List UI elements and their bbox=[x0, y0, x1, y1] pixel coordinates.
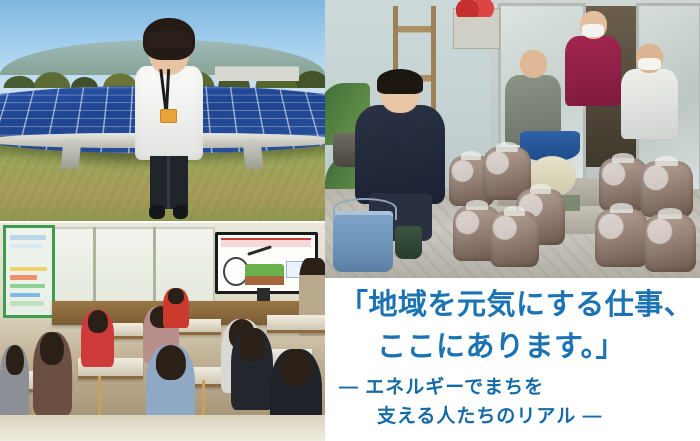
staff-person bbox=[133, 18, 205, 221]
shiitake-bag bbox=[490, 211, 539, 267]
student-head bbox=[40, 332, 64, 365]
navy-jacket bbox=[355, 105, 445, 204]
poster-canvas: 「地域を元気にする仕事、 ここにあります。」 — エネルギーでまちを 支える人た… bbox=[0, 0, 700, 441]
harvest-photo bbox=[325, 0, 700, 278]
subline-line-2: 支える人たちのリアル — bbox=[325, 402, 700, 431]
panel-support-leg-left bbox=[60, 139, 81, 169]
wall-poster bbox=[3, 225, 55, 318]
caption-panel: 「地域を元気にする仕事、 ここにあります。」 — エネルギーでまちを 支える人た… bbox=[325, 278, 700, 441]
solar-panel-photo bbox=[0, 0, 325, 221]
distant-building bbox=[215, 66, 300, 80]
resident-seated-right bbox=[621, 44, 677, 139]
head bbox=[520, 50, 547, 78]
classroom-windows bbox=[33, 227, 215, 305]
student bbox=[163, 288, 189, 327]
chair-frame bbox=[98, 376, 101, 415]
student bbox=[231, 328, 273, 411]
slide-soil-graphic bbox=[245, 276, 284, 285]
student-head bbox=[167, 288, 183, 304]
shiitake-bag bbox=[644, 214, 697, 272]
student-head bbox=[156, 345, 186, 380]
student bbox=[0, 345, 29, 419]
face-mask bbox=[638, 58, 661, 70]
panel-support-leg-right bbox=[242, 139, 263, 169]
blue-bucket bbox=[333, 211, 393, 272]
bucket-handle bbox=[333, 198, 397, 219]
student-head bbox=[280, 349, 312, 386]
magenta-jacket bbox=[565, 36, 621, 106]
student bbox=[33, 332, 72, 415]
student bbox=[81, 310, 114, 367]
classroom-photo bbox=[0, 223, 325, 441]
headline-line-2: ここにあります。」 bbox=[325, 326, 700, 368]
face-mask bbox=[582, 24, 605, 36]
potted-flowers bbox=[456, 0, 494, 17]
shoe-left bbox=[149, 205, 165, 219]
trousers bbox=[150, 156, 187, 209]
headline-line-1: 「地域を元気にする仕事、 bbox=[325, 278, 700, 326]
shoe-right bbox=[173, 205, 189, 219]
rubber-boot bbox=[395, 226, 422, 259]
teacher-desk bbox=[267, 315, 326, 333]
student-head bbox=[6, 345, 24, 375]
student-head bbox=[239, 328, 265, 361]
student-head bbox=[87, 310, 107, 333]
classroom-floor bbox=[0, 415, 325, 441]
white-jacket bbox=[621, 69, 677, 139]
shiitake-bag bbox=[595, 209, 648, 267]
chair-frame bbox=[202, 380, 205, 415]
id-badge bbox=[160, 109, 178, 123]
resident-standing-back bbox=[565, 11, 621, 106]
hair-fringe bbox=[145, 30, 194, 48]
monitor-stand bbox=[257, 288, 270, 301]
subline-line-1: — エネルギーでまちを bbox=[325, 368, 700, 402]
hair bbox=[377, 69, 424, 95]
